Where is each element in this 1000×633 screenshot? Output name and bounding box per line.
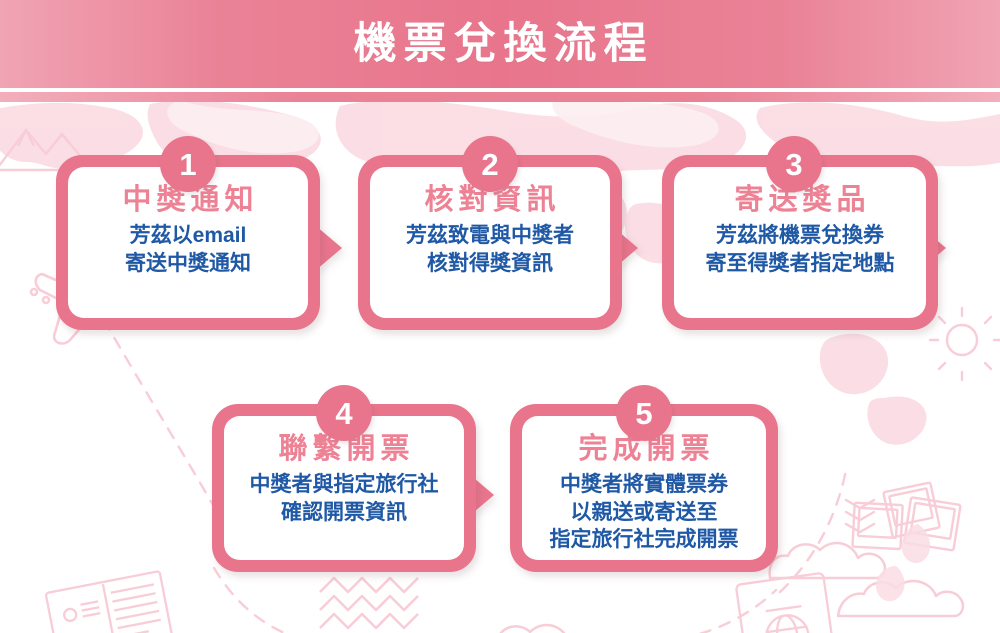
step-body-line: 以親送或寄送至 xyxy=(550,499,739,526)
sun-icon xyxy=(930,308,1000,380)
step-body-2: 芳茲致電與中獎者 核對得獎資訊 xyxy=(406,222,574,277)
infographic-canvas: 機票兌換流程 中獎通知 芳茲以email 寄送中獎通知 1 核對資訊 芳茲致電與… xyxy=(0,0,1000,633)
step-body-1: 芳茲以email 寄送中獎通知 xyxy=(125,222,251,277)
step-body-3: 芳茲將機票兌換券 寄至得獎者指定地點 xyxy=(706,222,895,277)
step-body-line: 中獎者將實體票券 xyxy=(550,471,739,498)
zigzag-lines xyxy=(320,578,418,628)
step-body-line: 芳茲將機票兌換券 xyxy=(706,222,895,249)
step-badge-3: 3 xyxy=(766,136,822,192)
step-body-5: 中獎者將實體票券 以親送或寄送至 指定旅行社完成開票 xyxy=(550,471,739,553)
step-body-line: 中獎者與指定旅行社 xyxy=(250,471,439,498)
step-body-line: 寄至得獎者指定地點 xyxy=(706,250,895,277)
step-body-line: 確認開票資訊 xyxy=(250,499,439,526)
page-title: 機票兌換流程 xyxy=(347,23,654,66)
step-body-line: 寄送中獎通知 xyxy=(125,250,251,277)
passport-icon xyxy=(736,573,838,633)
step-body-line: 核對得獎資訊 xyxy=(406,250,574,277)
step-badge-2: 2 xyxy=(462,136,518,192)
step-badge-5: 5 xyxy=(616,385,672,441)
step-body-4: 中獎者與指定旅行社 確認開票資訊 xyxy=(250,471,439,526)
step-badge-4: 4 xyxy=(316,385,372,441)
step-body-line: 芳茲致電與中獎者 xyxy=(406,222,574,249)
header-accent-band xyxy=(0,92,1000,102)
header-banner: 機票兌換流程 xyxy=(0,0,1000,88)
step-body-line: 指定旅行社完成開票 xyxy=(550,526,739,553)
postcard-icon xyxy=(46,571,173,633)
step-body-line: 芳茲以email xyxy=(125,222,251,249)
step-badge-1: 1 xyxy=(160,136,216,192)
